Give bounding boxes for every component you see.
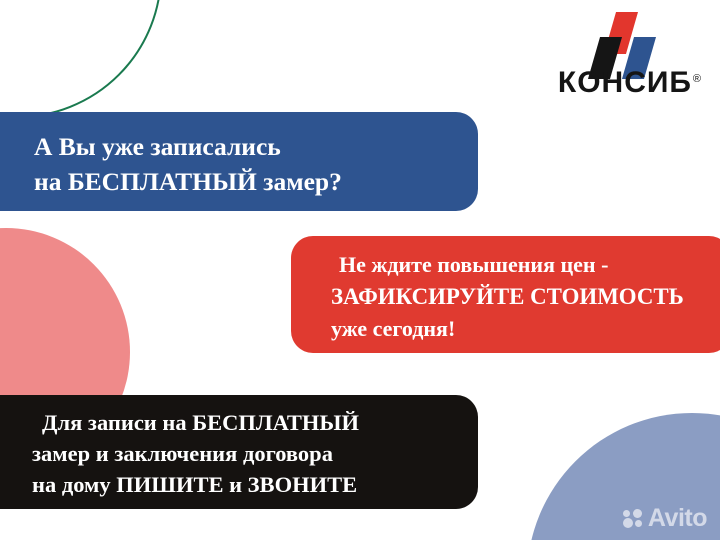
- avito-dots-icon: [623, 509, 644, 528]
- message-red-line-2: ЗАФИКСИРУЙТЕ СТОИМОСТЬ: [331, 281, 720, 313]
- message-red-line-1: Не ждите повышения цен -: [331, 249, 720, 281]
- poster-canvas: КОНСИБ ® А Вы уже записались на БЕСПЛАТН…: [0, 0, 720, 540]
- headline-blue-line-2: на БЕСПЛАТНЫЙ замер?: [34, 164, 478, 199]
- green-circle-outline-decoration: [0, 0, 162, 118]
- message-red-line-3: уже сегодня!: [331, 313, 720, 345]
- cta-black-line-1: Для записи на БЕСПЛАТНЫЙ: [32, 407, 478, 438]
- logo-mark-icon: [526, 10, 702, 66]
- headline-box-blue: А Вы уже записались на БЕСПЛАТНЫЙ замер?: [0, 112, 478, 211]
- registered-trademark-symbol: ®: [693, 62, 702, 96]
- cta-black-line-2: замер и заключения договора: [32, 438, 478, 469]
- konsib-logo: КОНСИБ ®: [526, 10, 702, 106]
- message-box-red: Не ждите повышения цен - ЗАФИКСИРУЙТЕ СТ…: [291, 236, 720, 353]
- avito-watermark-label: Avito: [648, 506, 707, 531]
- avito-watermark: Avito: [623, 506, 707, 531]
- headline-blue-line-1: А Вы уже записались: [34, 129, 478, 164]
- logo-wordmark-text: КОНСИБ: [558, 66, 692, 99]
- cta-box-black: Для записи на БЕСПЛАТНЫЙ замер и заключе…: [0, 395, 478, 509]
- cta-black-line-3: на дому ПИШИТЕ и ЗВОНИТЕ: [32, 469, 478, 500]
- logo-wordmark: КОНСИБ ®: [526, 66, 702, 100]
